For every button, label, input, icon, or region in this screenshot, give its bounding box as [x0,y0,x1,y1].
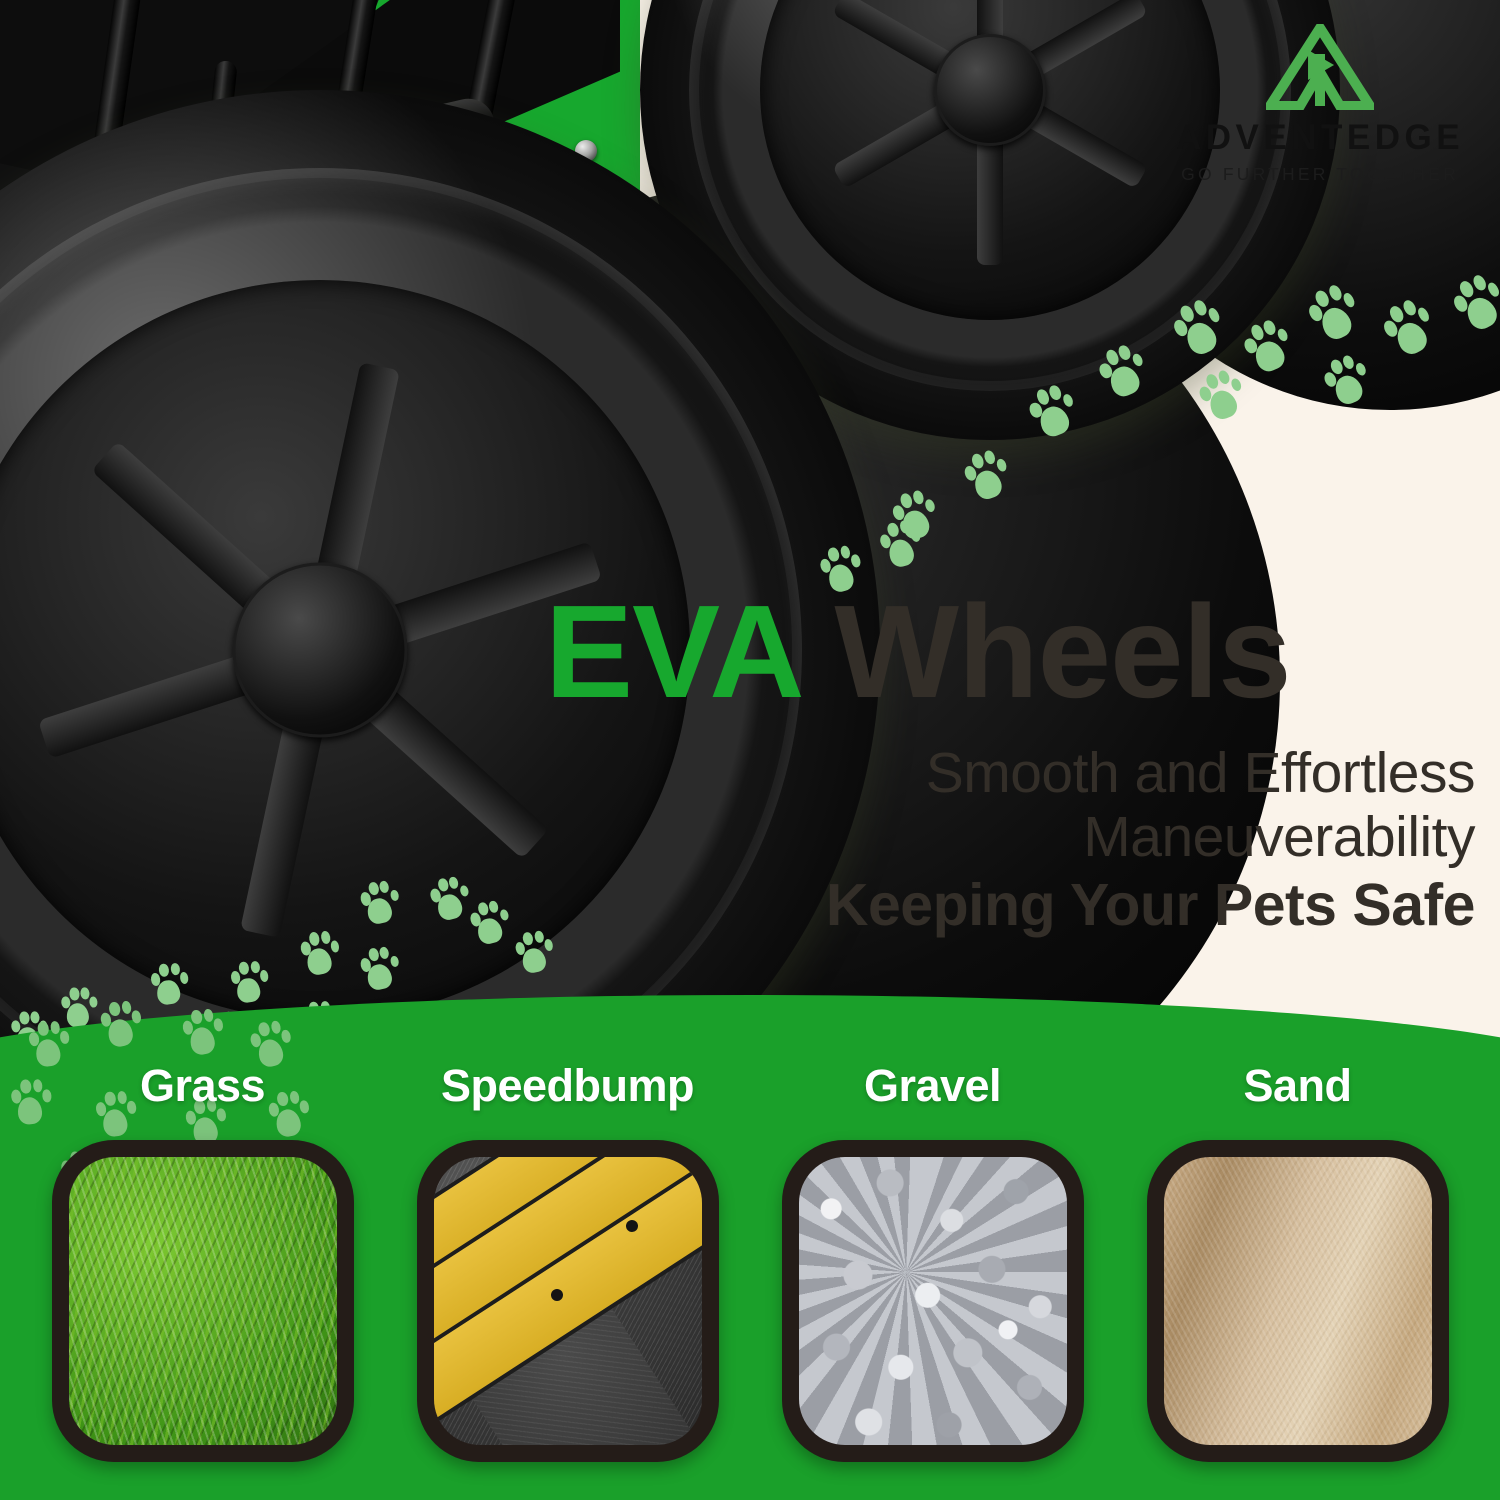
gravel-texture-image [799,1157,1067,1445]
terrain-label: Speedbump [441,1060,694,1112]
terrain-thumbnail-sand [1147,1140,1449,1462]
play-triangle-icon [1308,50,1334,80]
grass-texture-image [69,1157,337,1445]
terrain-label: Gravel [864,1060,1001,1112]
paw-print-icon [227,957,273,1008]
terrain-thumbnail-speedbump [417,1140,719,1462]
terrain-item-sand: Sand [1128,1060,1468,1462]
terrain-showcase: Grass Speedbump Gravel [0,1060,1500,1500]
hero-subtitle: Smooth and Effortless Maneuverability Ke… [545,742,1475,942]
brand-tagline: GO FURTHER TOGETHER [1170,164,1470,185]
paw-print-icon [296,927,346,981]
terrain-item-gravel: Gravel [763,1060,1103,1462]
wheel-rim-rear [760,0,1220,320]
wheel-hub-cap-rear [934,34,1046,146]
brand-logo: ADVENTEDGE GO FURTHER TOGETHER [1170,24,1470,185]
hero-title: EVA Wheels [545,586,1475,718]
brand-name: ADVENTEDGE [1170,120,1470,155]
hero-subtitle-line3: Keeping Your Pets Safe [545,870,1475,942]
paw-print-icon [96,997,148,1053]
paw-print-icon [147,959,193,1010]
hero-subtitle-line2: Maneuverability [545,806,1475,870]
terrain-label: Sand [1243,1060,1351,1112]
hero-subtitle-line1: Smooth and Effortless [545,742,1475,806]
terrain-thumbnail-grass [52,1140,354,1462]
terrain-item-speedbump: Speedbump [398,1060,738,1462]
hero-title-rest: Wheels [799,578,1291,725]
hero-title-accent: EVA [545,578,799,725]
speedbump-texture-image [434,1157,702,1445]
product-marketing-image: ADVENTEDGE GO FURTHER TOGETHER EVA Wheel… [0,0,1500,1500]
wheel-hub-cap-front [233,563,408,738]
terrain-thumbnail-gravel [782,1140,1084,1462]
terrain-label: Grass [140,1060,265,1112]
sand-texture-image [1164,1157,1432,1445]
paw-print-icon [178,1005,230,1061]
terrain-item-grass: Grass [33,1060,373,1462]
